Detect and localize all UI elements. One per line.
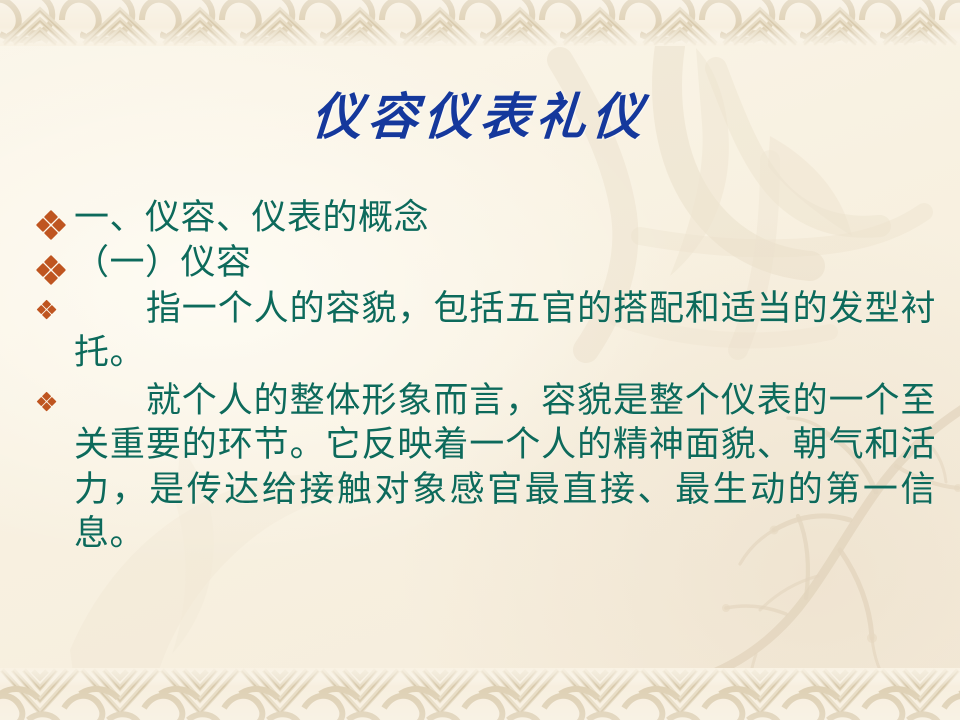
bottom-decorative-border [0, 668, 960, 720]
diamond-cluster-bullet-icon [38, 257, 64, 283]
bullet-item-heading-concept[interactable]: 一、仪容、仪表的概念 [24, 198, 936, 239]
bullet-text: （一）仪容 [74, 243, 936, 284]
bullet-item-para-definition[interactable]: 指一个人的容貌，包括五官的搭配和适当的发型衬托。 [24, 287, 936, 375]
bullet-text: 指一个人的容貌，包括五官的搭配和适当的发型衬托。 [74, 287, 936, 375]
slide-title: 仪容仪表礼仪 [0, 92, 960, 142]
bullet-text: 就个人的整体形象而言，容貌是整个仪表的一个至关重要的环节。它反映着一个人的精神面… [74, 379, 936, 555]
bullet-item-para-importance[interactable]: 就个人的整体形象而言，容貌是整个仪表的一个至关重要的环节。它反映着一个人的精神面… [24, 379, 936, 555]
bullet-item-subheading-yirong[interactable]: （一）仪容 [24, 243, 936, 284]
diamond-cluster-bullet-icon [38, 393, 55, 410]
diamond-cluster-bullet-icon [38, 301, 55, 318]
diamond-cluster-bullet-icon [38, 212, 64, 238]
slide-canvas: 仪容仪表礼仪 一、仪容、仪表的概念 （一）仪容 指一个人的容貌，包括五官的搭配和… [0, 0, 960, 720]
bullet-text: 一、仪容、仪表的概念 [74, 198, 936, 239]
slide-body-list: 一、仪容、仪表的概念 （一）仪容 指一个人的容貌，包括五官的搭配和适当的发型衬托… [24, 198, 936, 556]
top-decorative-border [0, 0, 960, 46]
